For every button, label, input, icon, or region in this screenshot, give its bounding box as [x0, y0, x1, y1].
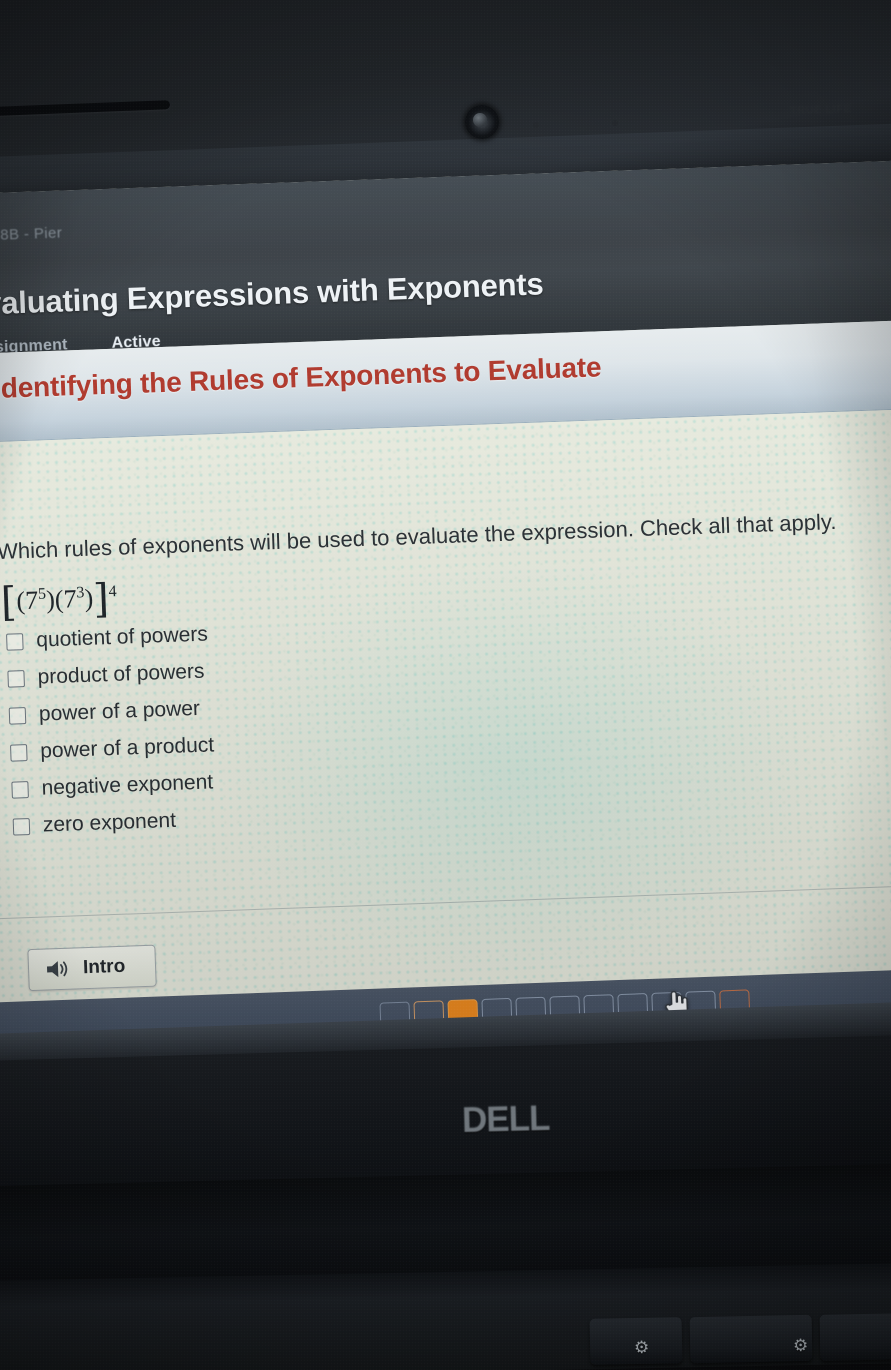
breadcrumb[interactable]: s 8B - Pier — [0, 224, 62, 244]
gear-icon: ⚙ — [793, 1336, 809, 1356]
option-power-of-a-product[interactable]: power of a product — [10, 733, 215, 764]
intro-audio-button[interactable]: Intro — [27, 945, 157, 992]
camera-indicator-led-icon — [533, 122, 539, 128]
expression-right-base: 7 — [63, 584, 77, 613]
activity-title: Identifying the Rules of Exponents to Ev… — [0, 351, 602, 405]
option-label: power of a power — [39, 697, 201, 727]
option-negative-exponent[interactable]: negative exponent — [11, 770, 216, 801]
expression-left-group: (75) — [16, 585, 55, 615]
speaker-icon — [45, 958, 72, 981]
dell-brand-logo: DELL — [462, 1099, 550, 1141]
checkbox-icon[interactable] — [7, 670, 25, 688]
option-quotient-of-powers[interactable]: quotient of powers — [6, 622, 211, 653]
option-label: zero exponent — [42, 809, 176, 838]
question-text: Which rules of exponents will be used to… — [0, 502, 891, 566]
activity-content-panel: Which rules of exponents will be used to… — [0, 408, 891, 1006]
intro-button-label: Intro — [83, 956, 126, 979]
checkbox-icon[interactable] — [6, 633, 24, 651]
option-label: quotient of powers — [36, 623, 208, 653]
expression-left-exponent: 5 — [38, 586, 47, 603]
webcam-lens-glint-icon — [473, 113, 487, 127]
math-expression: [(75)(73)]4 — [0, 576, 118, 626]
expression-outer-exponent: 4 — [108, 583, 117, 600]
checkbox-icon[interactable] — [11, 781, 29, 799]
answer-options-list: quotient of powers product of powers pow… — [6, 622, 217, 838]
laptop-screen: s 8B - Pier valuating Expressions with E… — [0, 159, 891, 1076]
option-power-of-a-power[interactable]: power of a power — [9, 696, 214, 727]
page-title: valuating Expressions with Exponents — [0, 266, 544, 322]
option-label: product of powers — [37, 660, 205, 690]
option-product-of-powers[interactable]: product of powers — [7, 659, 212, 690]
expression-close-bracket: ] — [92, 576, 109, 623]
laptop-photo-scene: TRUE LIFE s 8B - Pier valuating Expressi… — [0, 0, 891, 1370]
footer-divider — [0, 884, 891, 923]
checkbox-icon[interactable] — [10, 744, 28, 762]
option-label: power of a product — [40, 733, 215, 763]
ambient-sensor-dot-icon — [612, 120, 618, 126]
keyboard-key[interactable] — [820, 1313, 891, 1361]
expression-open-bracket: [ — [0, 579, 17, 626]
expression-right-group: (73) — [54, 584, 93, 614]
option-label: negative exponent — [41, 770, 213, 800]
checkbox-icon[interactable] — [9, 707, 27, 725]
expression-right-exponent: 3 — [76, 584, 85, 601]
gear-icon: ⚙ — [634, 1338, 650, 1358]
option-zero-exponent[interactable]: zero exponent — [13, 807, 218, 838]
checkbox-icon[interactable] — [13, 818, 31, 836]
